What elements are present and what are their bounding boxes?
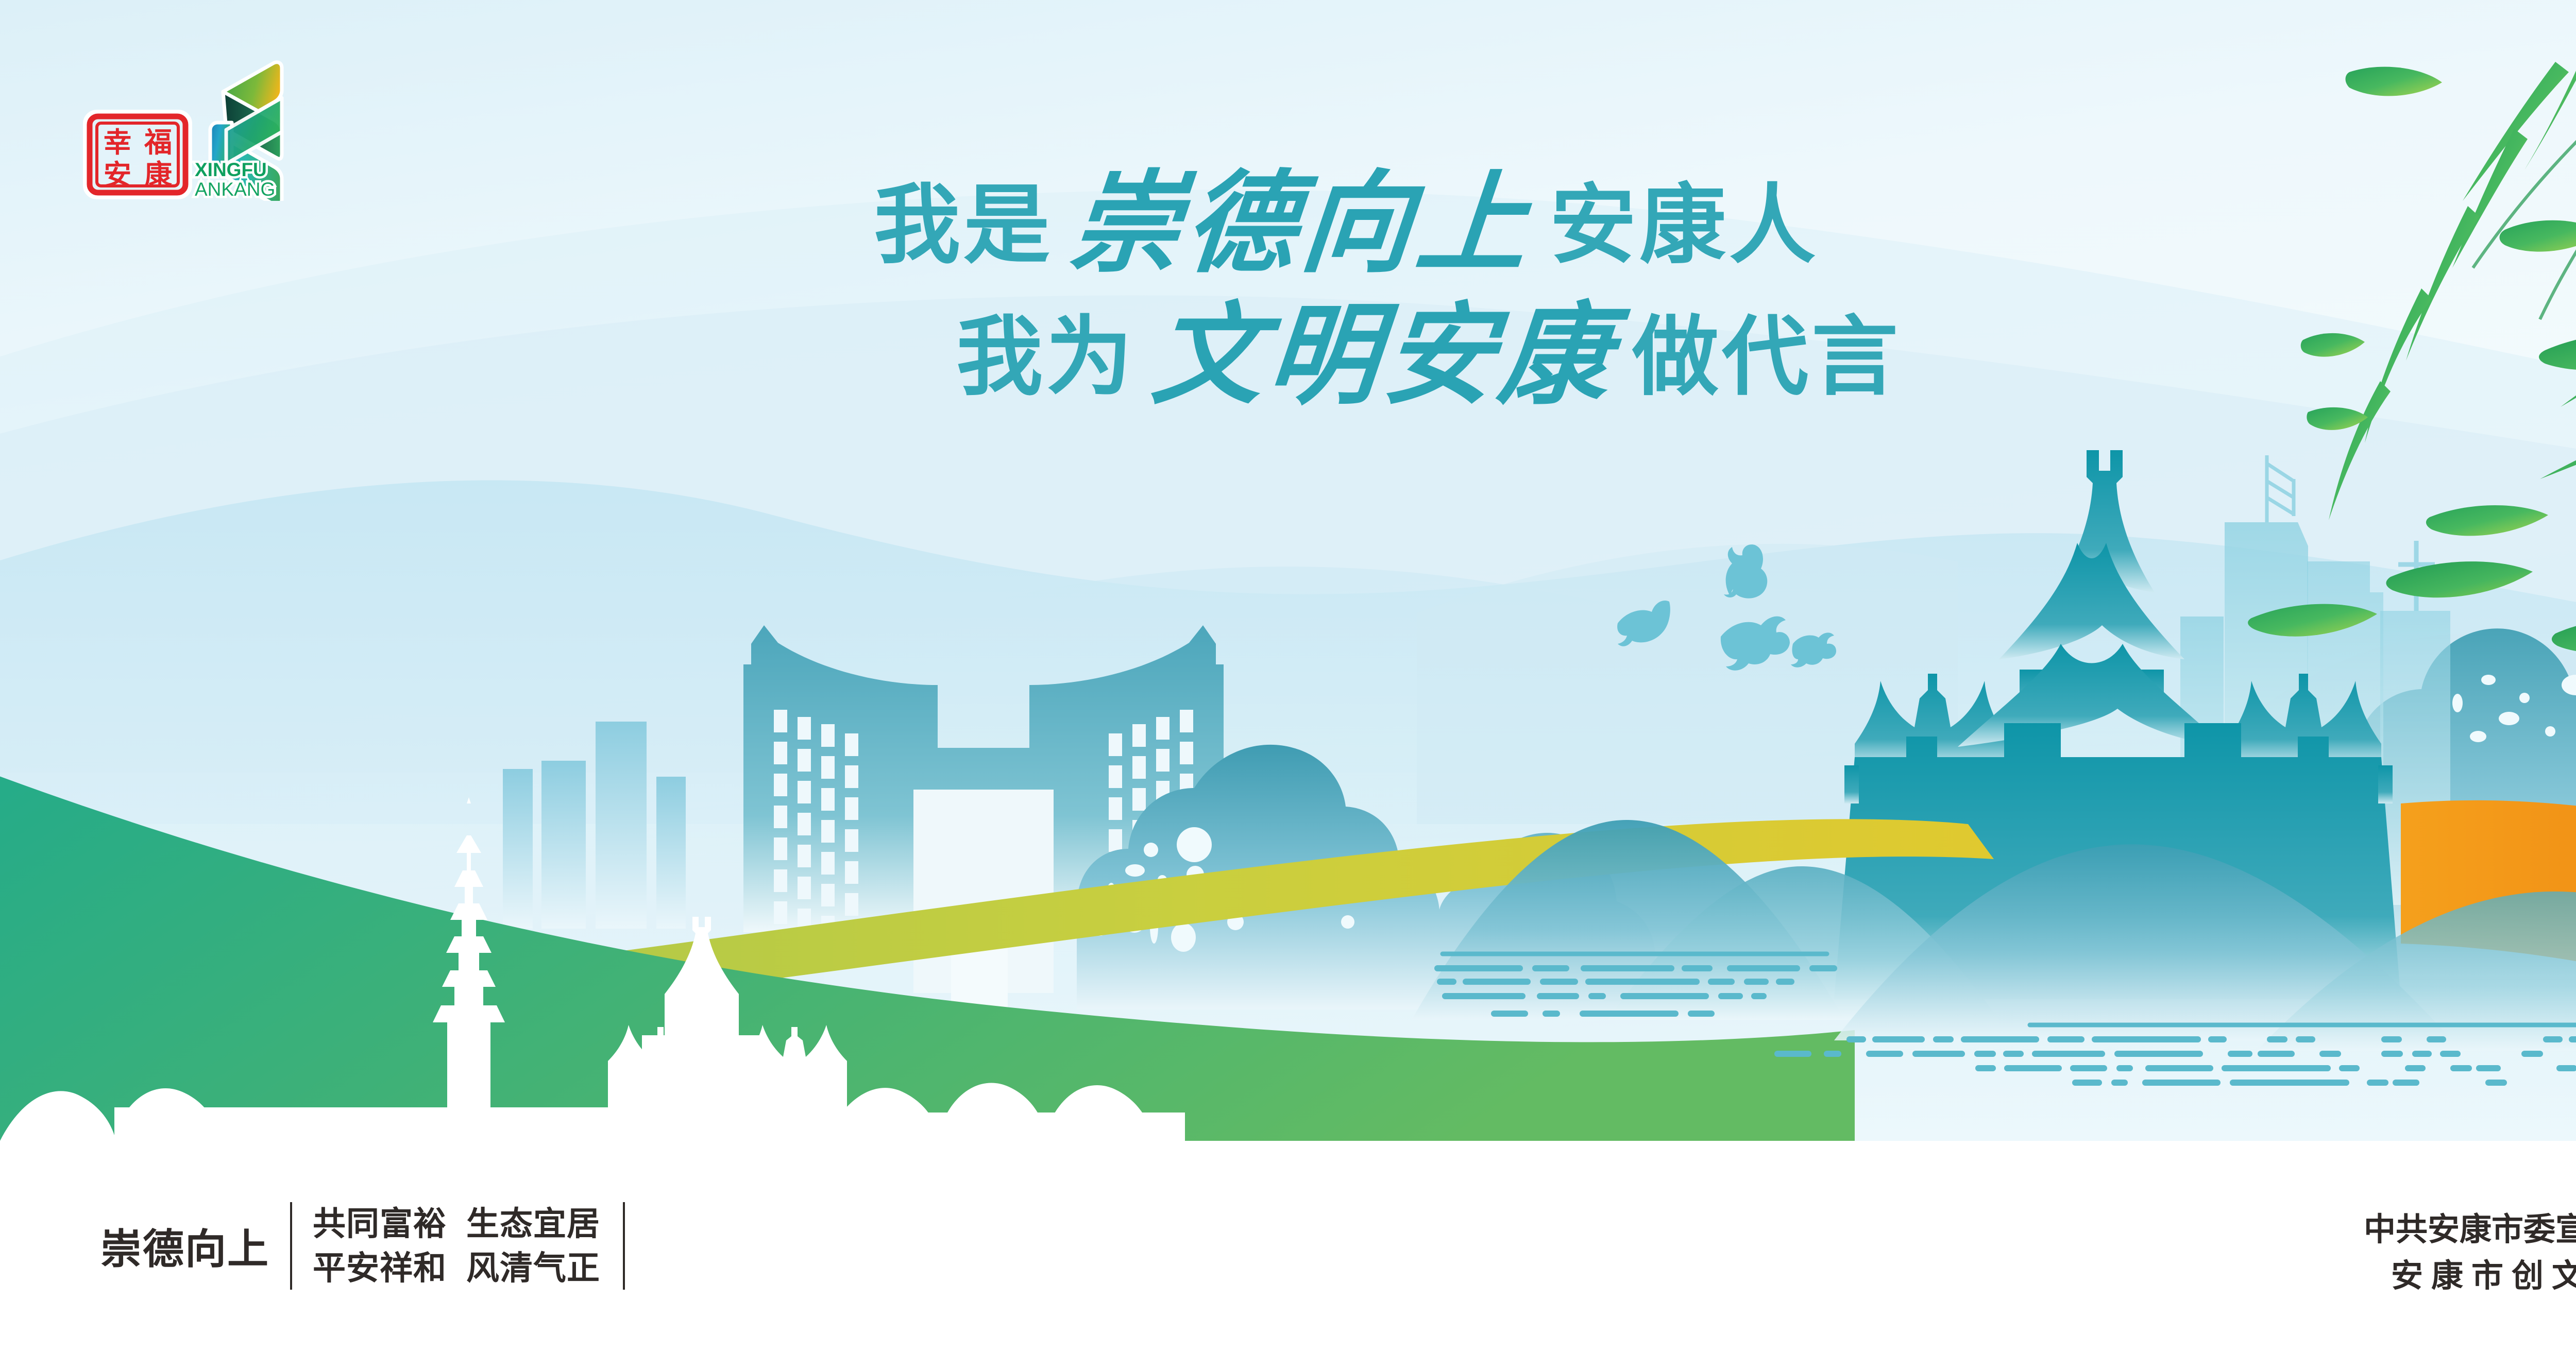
footer-value-2: 生态宜居 [466,1205,600,1242]
footer-values-row-2: 平安祥和风清气正 [313,1246,600,1290]
svg-text:幸: 幸 [104,126,131,159]
footer-value-3: 平安祥和 [313,1250,447,1287]
footer-left-group: 崇德向上 共同富裕生态宜居 平安祥和风清气正 [100,1202,625,1291]
seal-stamp-icon: 幸 福 安 康 [87,113,189,196]
footer-divider-left [290,1202,292,1290]
illustration-scene: 幸 福 安 康 XINGFU ANKANG 我是崇德向上安康人 我为文明 [0,0,2576,1141]
footer-divider-right [623,1202,625,1290]
logo-pinyin: XINGFU ANKANG [195,159,275,200]
footer-slogan: 崇德向上 [100,1216,269,1276]
footer-values: 共同富裕生态宜居 平安祥和风清气正 [313,1202,600,1291]
svg-text:康: 康 [144,159,172,191]
footer-value-1: 共同富裕 [313,1205,447,1242]
svg-text:安: 安 [104,159,131,191]
svg-text:福: 福 [144,126,172,159]
footer-bar: 崇德向上 共同富裕生态宜居 平安祥和风清气正 中共安康市委宣传部 安康市创文办 [0,1141,2576,1369]
footer-value-4: 风清气正 [466,1250,600,1287]
footer-values-row-1: 共同富裕生态宜居 [313,1202,600,1246]
footer-org-2: 安康市创文办 [2372,1253,2576,1299]
poster-canvas: 幸 福 安 康 XINGFU ANKANG 我是崇德向上安康人 我为文明 [0,0,2576,1369]
logo-pinyin-line1: XINGFU [195,159,267,180]
footer-right-group: 中共安康市委宣传部 安康市创文办 [2364,1207,2576,1299]
footer-org-1: 中共安康市委宣传部 [2364,1207,2576,1253]
ankang-logo: 幸 福 安 康 XINGFU ANKANG [77,36,366,201]
logo-pinyin-line2: ANKANG [195,179,275,200]
